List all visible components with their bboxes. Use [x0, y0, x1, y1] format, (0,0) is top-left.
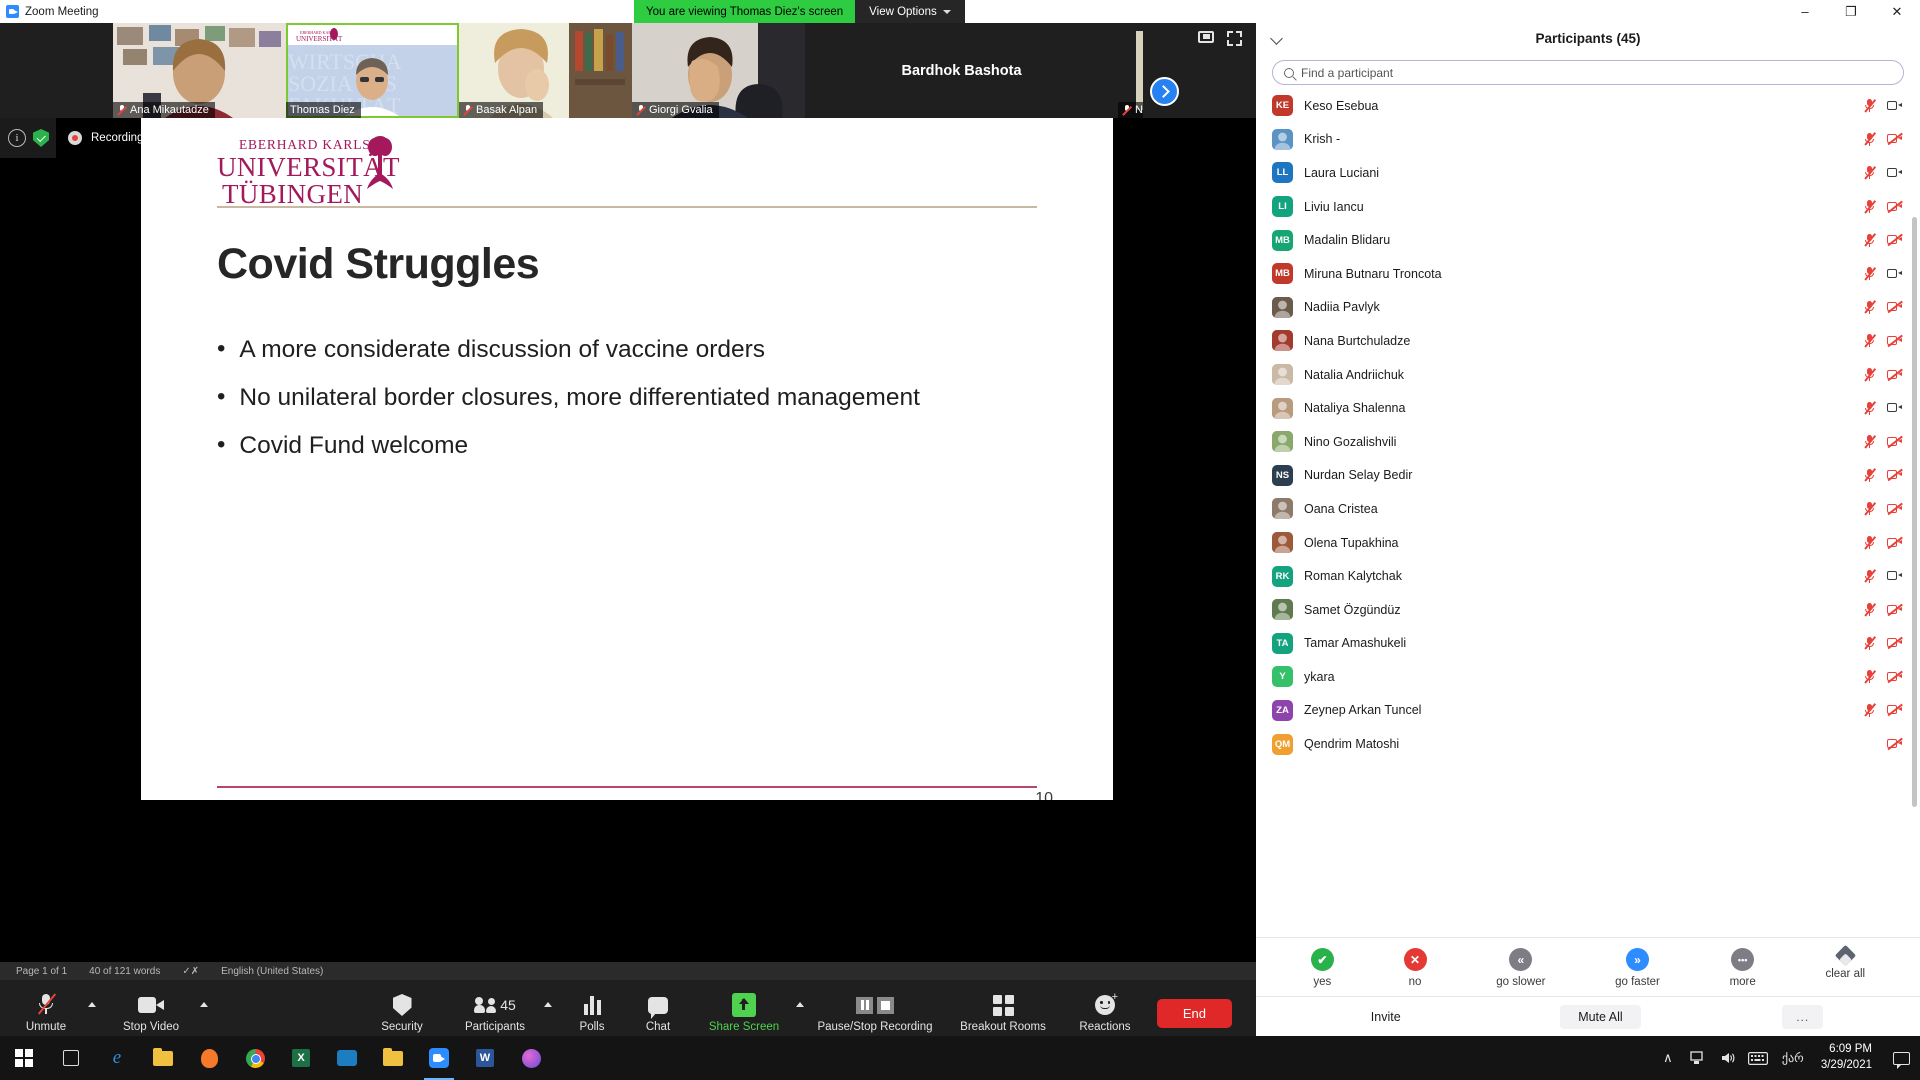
- participant-status-icons: [1856, 166, 1902, 179]
- avatar-photo: [1272, 364, 1293, 385]
- participant-name: Nataliya Shalenna: [1304, 401, 1845, 415]
- avatar-initials: ZA: [1272, 700, 1293, 721]
- participant-status-icons: [1856, 334, 1902, 347]
- participant-status-icons: [1856, 637, 1902, 650]
- participants-label: Participants: [465, 1021, 525, 1033]
- zoom-icon: [429, 1048, 449, 1068]
- screen-share-banner: You are viewing Thomas Diez's screen Vie…: [634, 0, 965, 23]
- invite-button[interactable]: Invite: [1353, 1005, 1419, 1029]
- participant-name: Nana Burtchuladze: [1304, 334, 1845, 348]
- mic-muted-icon[interactable]: [1864, 267, 1875, 280]
- reaction-label: go faster: [1615, 976, 1660, 988]
- video-off-icon[interactable]: [1887, 369, 1902, 380]
- video-tile-name-0: Ana Mikautadze: [113, 102, 215, 118]
- participants-scrollbar[interactable]: [1912, 217, 1917, 807]
- video-on-icon[interactable]: [1887, 167, 1902, 178]
- avatar-initials: KE: [1272, 95, 1293, 116]
- participant-status-icons: [1856, 536, 1902, 549]
- participant-status-icons: [1856, 402, 1902, 415]
- video-off-icon[interactable]: [1887, 335, 1902, 346]
- mic-muted-icon[interactable]: [1864, 402, 1875, 415]
- reaction-go-slower[interactable]: «go slower: [1496, 948, 1545, 988]
- reaction-label: go slower: [1496, 976, 1545, 988]
- reaction-icon: •••: [1731, 948, 1754, 971]
- slide-bullet: • A more considerate discussion of vacci…: [217, 336, 1057, 364]
- slide-page-number: 10: [1035, 790, 1053, 800]
- close-button[interactable]: ✕: [1874, 0, 1920, 23]
- participant-status-icons: [1856, 739, 1902, 750]
- word-word-count: 40 of 121 words: [89, 966, 160, 977]
- share-screen-icon: [732, 993, 756, 1017]
- keyboard-icon[interactable]: [1743, 1036, 1773, 1080]
- participants-panel: Participants (45) Find a participant KEK…: [1256, 23, 1920, 1036]
- show-hidden-icons-chevron[interactable]: ∧: [1653, 1036, 1683, 1080]
- video-tile-name-only[interactable]: Bardhok Bashota: [805, 23, 1118, 118]
- fullscreen-icon[interactable]: [1227, 31, 1242, 46]
- start-button[interactable]: [0, 1036, 48, 1080]
- clock-date: 3/29/2021: [1821, 1058, 1872, 1074]
- participant-status-icons: [1856, 267, 1902, 280]
- participant-name: Nino Gozalishvili: [1304, 435, 1845, 449]
- volume-icon[interactable]: [1713, 1036, 1743, 1080]
- bullet-dot-icon: •: [217, 384, 225, 412]
- participant-name: Tamar Amashukeli: [1304, 636, 1845, 650]
- window-title: Zoom Meeting: [25, 6, 99, 18]
- meeting-info-bar: i: [0, 118, 56, 158]
- video-off-icon[interactable]: [1887, 739, 1902, 750]
- video-tile-name-1: Thomas Diez: [286, 102, 361, 118]
- system-tray: ∧: [1653, 1036, 1920, 1080]
- reaction-label: clear all: [1825, 968, 1865, 980]
- task-view-button[interactable]: [48, 1036, 94, 1080]
- word-icon: W: [476, 1049, 494, 1067]
- mic-muted-icon[interactable]: [1864, 301, 1875, 314]
- video-options-chevron-icon[interactable]: [200, 1002, 208, 1007]
- chat-label: Chat: [646, 1021, 670, 1033]
- participant-row[interactable]: Nadiia Pavlyk: [1256, 291, 1920, 325]
- reaction-more[interactable]: •••more: [1730, 948, 1756, 988]
- participant-name: Nadiia Pavlyk: [1304, 300, 1845, 314]
- bullet-text: No unilateral border closures, more diff…: [239, 384, 919, 412]
- video-on-icon[interactable]: [1887, 100, 1902, 111]
- search-placeholder: Find a participant: [1301, 66, 1393, 80]
- slide-bullet-list: • A more considerate discussion of vacci…: [217, 336, 1057, 480]
- bullet-text: A more considerate discussion of vaccine…: [239, 336, 765, 364]
- more-options-button[interactable]: ...: [1782, 1005, 1823, 1029]
- participants-panel-footer: Invite Mute All ...: [1256, 996, 1920, 1036]
- avatar-photo: [1272, 129, 1293, 150]
- mic-muted-icon[interactable]: [1864, 570, 1875, 583]
- participant-status-icons: [1856, 99, 1902, 112]
- participant-row[interactable]: KEKeso Esebua: [1256, 89, 1920, 123]
- participant-row[interactable]: Oana Cristea: [1256, 492, 1920, 526]
- mic-muted-icon[interactable]: [1864, 200, 1875, 213]
- share-options-chevron-icon[interactable]: [796, 1002, 804, 1007]
- participant-status-icons: [1856, 670, 1902, 683]
- background-app-status-bar: Page 1 of 1 40 of 121 words ✓✗ English (…: [0, 962, 1256, 980]
- taskbar-app-edge[interactable]: e: [94, 1036, 140, 1080]
- video-tile-name-2: Basak Alpan: [459, 102, 543, 118]
- participant-name: Roman Kalytchak: [1304, 569, 1845, 583]
- video-off-icon[interactable]: [1887, 134, 1902, 145]
- video-off-icon[interactable]: [1887, 705, 1902, 716]
- nonverbal-feedback-row: ✔yes✕no«go slower»go faster•••moreclear …: [1256, 937, 1920, 996]
- participant-status-icons: [1856, 469, 1902, 482]
- breakout-rooms-label: Breakout Rooms: [960, 1021, 1046, 1033]
- participant-name: Olena Tupakhina: [1304, 536, 1845, 550]
- participant-status-icons: [1856, 704, 1902, 717]
- video-off-icon[interactable]: [1887, 537, 1902, 548]
- mic-muted-icon: [636, 105, 645, 116]
- audio-options-chevron-icon[interactable]: [88, 1002, 96, 1007]
- avatar-initials: MB: [1272, 263, 1293, 284]
- taskbar-app-chrome[interactable]: [232, 1036, 278, 1080]
- participant-name: Nurdan Selay Bedir: [1304, 468, 1845, 482]
- reaction-go-faster[interactable]: »go faster: [1615, 948, 1660, 988]
- video-off-icon[interactable]: [1887, 201, 1902, 212]
- viewing-screen-label: You are viewing Thomas Diez's screen: [634, 0, 855, 23]
- window-title-bar: Zoom Meeting You are viewing Thomas Diez…: [0, 0, 1920, 23]
- avatar-initials: LL: [1272, 162, 1293, 183]
- video-off-icon[interactable]: [1887, 302, 1902, 313]
- slide-title: Covid Struggles: [217, 240, 539, 289]
- participant-status-icons: [1856, 570, 1902, 583]
- participant-name: ykara: [1304, 670, 1845, 684]
- pause-stop-recording-label: Pause/Stop Recording: [817, 1021, 932, 1033]
- video-camera-icon: [138, 993, 164, 1017]
- folder-icon: [383, 1051, 403, 1066]
- word-language: English (United States): [221, 966, 323, 977]
- participant-status-icons: [1856, 502, 1902, 515]
- picture-in-picture-icon[interactable]: [1198, 31, 1214, 43]
- reaction-label: more: [1730, 976, 1756, 988]
- participant-row[interactable]: NSNurdan Selay Bedir: [1256, 459, 1920, 493]
- video-on-icon[interactable]: [1887, 268, 1902, 279]
- clock-time: 6:09 PM: [1829, 1042, 1872, 1058]
- volume-glyph: [1720, 1051, 1736, 1065]
- view-options-label: View Options: [869, 6, 937, 18]
- view-options-button[interactable]: View Options: [855, 0, 965, 23]
- windows-taskbar: e X W ∧: [0, 1036, 1920, 1080]
- participant-row[interactable]: MBMadalin Blidaru: [1256, 223, 1920, 257]
- shared-screen-area: i Recording... EBERHARD KARLS UNIVERSITÄ…: [0, 118, 1256, 980]
- taskbar-app-wireshark[interactable]: [324, 1036, 370, 1080]
- participant-name: Basak Alpan: [476, 104, 537, 116]
- slide-bullet: • No unilateral border closures, more di…: [217, 384, 1057, 412]
- taskbar-app-excel[interactable]: X: [278, 1036, 324, 1080]
- mic-muted-icon[interactable]: [1864, 670, 1875, 683]
- excel-icon: X: [292, 1049, 310, 1067]
- clear-all-icon: [1835, 945, 1856, 966]
- mute-all-button[interactable]: Mute All: [1560, 1005, 1640, 1029]
- participants-count: 45: [500, 997, 516, 1013]
- participant-row[interactable]: RKRoman Kalytchak: [1256, 559, 1920, 593]
- mic-muted-icon[interactable]: [1864, 334, 1875, 347]
- taskbar-app-firefox[interactable]: [186, 1036, 232, 1080]
- keyboard-glyph: [1748, 1052, 1768, 1065]
- presentation-slide: EBERHARD KARLS UNIVERSITÄT TÜBINGEN Covi…: [141, 118, 1113, 800]
- participant-status-icons: [1856, 435, 1902, 448]
- mic-muted-icon[interactable]: [1864, 502, 1875, 515]
- participant-name: Thomas Diez: [290, 104, 355, 116]
- tuebingen-tree-icon: [365, 135, 395, 195]
- video-tile-0[interactable]: Ana Mikautadze: [113, 23, 286, 118]
- avatar-initials: Y: [1272, 666, 1293, 687]
- participant-row[interactable]: MBMiruna Butnaru Troncota: [1256, 257, 1920, 291]
- avatar-initials: MB: [1272, 230, 1293, 251]
- wireshark-icon: [337, 1050, 357, 1066]
- minimize-button[interactable]: –: [1782, 0, 1828, 23]
- reaction-yes[interactable]: ✔yes: [1311, 948, 1334, 988]
- video-off-icon[interactable]: [1887, 638, 1902, 649]
- end-meeting-button[interactable]: End: [1157, 999, 1232, 1028]
- video-tile-2[interactable]: Basak Alpan: [459, 23, 632, 118]
- video-off-icon[interactable]: [1887, 671, 1902, 682]
- avatar-photo: [1272, 297, 1293, 318]
- unmute-label: Unmute: [26, 1021, 66, 1033]
- search-icon: [1284, 68, 1294, 78]
- chat-bubble-icon: [648, 993, 668, 1017]
- participant-row[interactable]: Nino Gozalishvili: [1256, 425, 1920, 459]
- mic-muted-icon[interactable]: [1864, 234, 1875, 247]
- title-bar-left: Zoom Meeting: [0, 5, 99, 18]
- filmstrip-icon-group: [1198, 31, 1242, 46]
- pause-stop-icon: [856, 993, 894, 1017]
- reaction-icon: «: [1509, 948, 1532, 971]
- participant-row[interactable]: Natalia Andriichuk: [1256, 358, 1920, 392]
- reaction-no[interactable]: ✕no: [1404, 948, 1427, 988]
- bullet-dot-icon: •: [217, 432, 225, 460]
- word-proofing-icon: ✓✗: [182, 966, 199, 977]
- avatar-photo: [1272, 398, 1293, 419]
- participant-status-icons: [1856, 234, 1902, 247]
- chrome-icon: [246, 1049, 265, 1068]
- next-page-arrow-icon[interactable]: [1150, 77, 1179, 106]
- mic-muted-icon: [117, 105, 126, 116]
- participant-name: Giorgi Gvalia: [649, 104, 713, 116]
- mic-muted-icon: [37, 993, 55, 1017]
- reaction-icon: ✔: [1311, 948, 1334, 971]
- reaction-icon: »: [1626, 948, 1649, 971]
- share-screen-label: Share Screen: [709, 1021, 779, 1033]
- participant-search-area: Find a participant: [1256, 54, 1920, 89]
- participant-name: Krish -: [1304, 132, 1845, 146]
- shield-icon: [393, 993, 412, 1017]
- video-filmstrip: Ana Mikautadze EBERHARD KARLS UNIVERSITÄ…: [0, 23, 1256, 118]
- recording-dot-icon: [68, 131, 82, 145]
- mic-muted-icon[interactable]: [1864, 536, 1875, 549]
- mic-muted-icon: [463, 105, 472, 116]
- chevron-down-icon[interactable]: [1270, 31, 1284, 45]
- avatar-initials: LI: [1272, 196, 1293, 217]
- search-input[interactable]: Find a participant: [1272, 60, 1904, 85]
- mic-muted-icon[interactable]: [1864, 603, 1875, 616]
- avatar-photo: [1272, 532, 1293, 553]
- avatar-initials: TA: [1272, 633, 1293, 654]
- participant-row[interactable]: Yykara: [1256, 660, 1920, 694]
- participant-row[interactable]: QMQendrim Matoshi: [1256, 727, 1920, 761]
- participant-row[interactable]: Nataliya Shalenna: [1256, 391, 1920, 425]
- slide-bullet: • Covid Fund welcome: [217, 432, 1057, 460]
- participant-row[interactable]: Olena Tupakhina: [1256, 526, 1920, 560]
- taskbar-app-zoom[interactable]: [416, 1036, 462, 1080]
- participant-status-icons: [1856, 603, 1902, 616]
- mic-muted-icon[interactable]: [1864, 99, 1875, 112]
- action-center-icon[interactable]: [1884, 1036, 1918, 1080]
- participants-options-chevron-icon[interactable]: [544, 1002, 552, 1007]
- avatar-photo: [1272, 599, 1293, 620]
- taskbar-app-explorer2[interactable]: [370, 1036, 416, 1080]
- participant-row[interactable]: Krish -: [1256, 123, 1920, 157]
- network-glyph: [1690, 1051, 1706, 1065]
- mic-muted-icon[interactable]: [1864, 435, 1875, 448]
- mic-muted-icon[interactable]: [1864, 704, 1875, 717]
- encryption-shield-icon[interactable]: [33, 129, 49, 147]
- reactions-smiley-icon: +: [1095, 993, 1115, 1017]
- video-off-icon[interactable]: [1887, 503, 1902, 514]
- participant-status-icons: [1856, 368, 1902, 381]
- mic-muted-icon: [1122, 105, 1131, 116]
- participant-row[interactable]: Nana Burtchuladze: [1256, 324, 1920, 358]
- participant-name: Keso Esebua: [1304, 99, 1845, 113]
- video-off-icon[interactable]: [1887, 604, 1902, 615]
- video-off-icon[interactable]: [1887, 436, 1902, 447]
- mic-muted-icon[interactable]: [1864, 637, 1875, 650]
- participant-name: Liviu Iancu: [1304, 200, 1845, 214]
- participant-name: Laura Luciani: [1304, 166, 1845, 180]
- maximize-button[interactable]: ❐: [1828, 0, 1874, 23]
- video-off-icon[interactable]: [1887, 235, 1902, 246]
- edge-icon: e: [113, 1047, 121, 1069]
- avatar-initials: NS: [1272, 465, 1293, 486]
- video-on-icon[interactable]: [1887, 403, 1902, 414]
- security-label: Security: [381, 1021, 423, 1033]
- avatar-initials: QM: [1272, 734, 1293, 755]
- photos-icon: [522, 1049, 541, 1068]
- video-on-icon[interactable]: [1887, 571, 1902, 582]
- people-icon: 45: [474, 993, 516, 1017]
- participant-row[interactable]: LLLaura Luciani: [1256, 156, 1920, 190]
- participant-row[interactable]: ZAZeynep Arkan Tuncel: [1256, 694, 1920, 728]
- taskbar-app-file-explorer[interactable]: [140, 1036, 186, 1080]
- participant-status-icons: [1856, 200, 1902, 213]
- language-indicator[interactable]: ქარ: [1773, 1036, 1813, 1080]
- reaction-label: no: [1409, 976, 1422, 988]
- participant-name: Oana Cristea: [1304, 502, 1845, 516]
- firefox-icon: [201, 1049, 218, 1068]
- mic-muted-icon[interactable]: [1864, 469, 1875, 482]
- task-view-icon: [63, 1050, 79, 1066]
- taskbar-app-word[interactable]: W: [462, 1036, 508, 1080]
- participants-panel-header: Participants (45): [1256, 23, 1920, 54]
- bullet-text: Covid Fund welcome: [239, 432, 468, 460]
- bullet-dot-icon: •: [217, 336, 225, 364]
- taskbar-app-photos[interactable]: [508, 1036, 554, 1080]
- meeting-info-icon[interactable]: i: [8, 129, 26, 147]
- avatar-initials: RK: [1272, 566, 1293, 587]
- participant-row[interactable]: LILiviu Iancu: [1256, 190, 1920, 224]
- reaction-clear-all[interactable]: clear all: [1825, 948, 1865, 980]
- slide-bottom-rule: [217, 786, 1037, 788]
- windows-logo-icon: [15, 1049, 34, 1068]
- word-page-status: Page 1 of 1: [16, 966, 67, 977]
- participant-name: Samet Özgündüz: [1304, 603, 1845, 617]
- video-tile-1[interactable]: EBERHARD KARLS UNIVERSITÄT WIRTSCHA SOZI…: [286, 23, 459, 118]
- mic-muted-icon[interactable]: [1864, 133, 1875, 146]
- participant-name: Miruna Butnaru Troncota: [1304, 267, 1845, 281]
- avatar-photo: [1272, 498, 1293, 519]
- avatar-photo: [1272, 330, 1293, 351]
- bar-chart-icon: [584, 993, 601, 1017]
- chevron-down-icon: [943, 10, 951, 14]
- participant-name: Ana Mikautadze: [130, 104, 209, 116]
- participant-row[interactable]: TATamar Amashukeli: [1256, 627, 1920, 661]
- video-tile-3[interactable]: Giorgi Gvalia: [632, 23, 805, 118]
- participant-status-icons: [1856, 133, 1902, 146]
- reaction-icon: ✕: [1404, 948, 1427, 971]
- zoom-app-icon: [6, 5, 19, 18]
- participants-panel-title: Participants (45): [1256, 31, 1920, 46]
- clock[interactable]: 6:09 PM 3/29/2021: [1813, 1042, 1884, 1073]
- participant-name: Natalia Andriichuk: [1304, 368, 1845, 382]
- reactions-label: Reactions: [1079, 1021, 1130, 1033]
- participant-name: Madalin Blidaru: [1304, 233, 1845, 247]
- network-icon[interactable]: [1683, 1036, 1713, 1080]
- video-off-icon[interactable]: [1887, 470, 1902, 481]
- breakout-rooms-icon: [993, 993, 1014, 1017]
- mic-muted-icon[interactable]: [1864, 166, 1875, 179]
- mic-muted-icon[interactable]: [1864, 368, 1875, 381]
- window-controls: – ❐ ✕: [1782, 0, 1920, 23]
- participants-list[interactable]: KEKeso EsebuaKrish -LLLaura LucianiLILiv…: [1256, 89, 1920, 937]
- participant-name: Qendrim Matoshi: [1304, 737, 1845, 751]
- polls-label: Polls: [580, 1021, 605, 1033]
- participant-row[interactable]: Samet Özgündüz: [1256, 593, 1920, 627]
- slide-top-rule: [217, 206, 1037, 208]
- avatar-photo: [1272, 431, 1293, 452]
- reaction-label: yes: [1313, 976, 1331, 988]
- stop-video-label: Stop Video: [123, 1021, 179, 1033]
- participant-status-icons: [1856, 301, 1902, 314]
- participant-name: Zeynep Arkan Tuncel: [1304, 703, 1845, 717]
- video-tile-name-3: Giorgi Gvalia: [632, 102, 719, 118]
- file-explorer-icon: [153, 1051, 173, 1066]
